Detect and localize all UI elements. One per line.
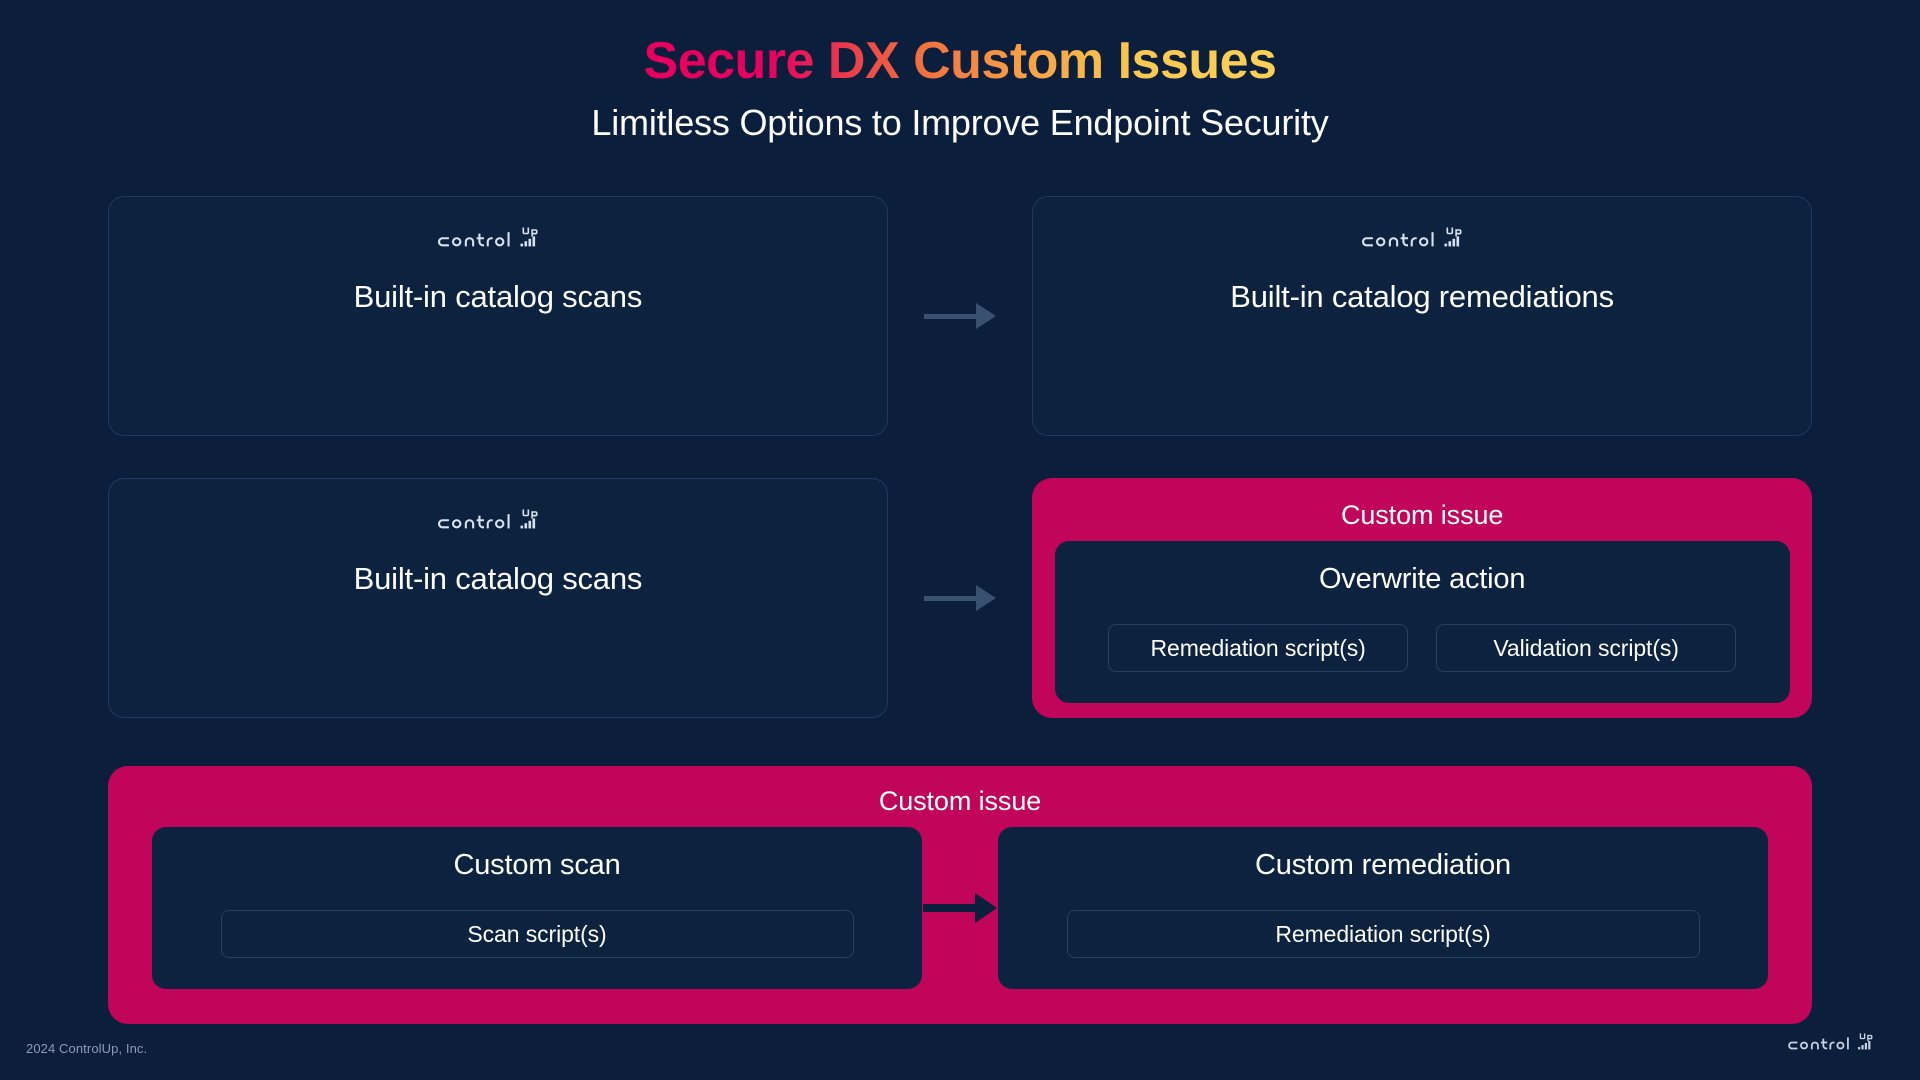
page-title: Secure DX Custom Issues — [644, 32, 1277, 90]
footer-copyright: 2024 ControlUp, Inc. — [26, 1041, 147, 1056]
inner-card-custom-remediation: Custom remediation Remediation script(s) — [998, 827, 1768, 989]
panel-custom-issue-overwrite[interactable]: Custom issue Overwrite action Remediatio… — [1032, 478, 1812, 718]
connector-overwrite — [888, 478, 1032, 718]
row-custom: Custom issue Custom scan Scan script(s) … — [0, 766, 1920, 1024]
script-button-row: Remediation script(s) Validation script(… — [1108, 624, 1736, 672]
controlup-logo-icon — [1788, 1033, 1890, 1055]
card-label: Built-in catalog remediations — [1230, 279, 1614, 315]
card-builtin-catalog-remediations[interactable]: Built-in catalog remediations — [1032, 196, 1812, 436]
controlup-logo-icon — [438, 509, 558, 535]
row-builtin: Built-in catalog scans — [0, 196, 1920, 436]
footer-controlup-logo — [1788, 1033, 1890, 1060]
validation-script-button[interactable]: Validation script(s) — [1436, 624, 1736, 672]
panel-custom-issue-wide[interactable]: Custom issue Custom scan Scan script(s) … — [108, 766, 1812, 1024]
row-overwrite: Built-in catalog scans Custom issue Over… — [0, 478, 1920, 718]
card-builtin-catalog-scans-2[interactable]: Built-in catalog scans — [108, 478, 888, 718]
inner-card-title: Overwrite action — [1319, 563, 1525, 596]
remediation-script-button[interactable]: Remediation script(s) — [1067, 910, 1700, 958]
remediation-script-button[interactable]: Remediation script(s) — [1108, 624, 1408, 672]
diagram: Built-in catalog scans — [0, 196, 1920, 1024]
arrow-right-icon — [923, 893, 997, 923]
panel-title: Custom issue — [1341, 500, 1503, 531]
inner-card-custom-scan: Custom scan Scan script(s) — [152, 827, 922, 989]
arrow-right-icon — [924, 585, 996, 611]
controlup-logo-icon — [438, 227, 558, 253]
scan-script-button[interactable]: Scan script(s) — [221, 910, 854, 958]
panel-body: Custom scan Scan script(s) Custom remedi… — [108, 827, 1812, 989]
inner-card-overwrite-action: Overwrite action Remediation script(s) V… — [1055, 541, 1790, 703]
connector-builtin — [888, 196, 1032, 436]
inner-card-title: Custom scan — [453, 849, 620, 882]
connector-custom — [922, 893, 998, 923]
card-label: Built-in catalog scans — [354, 279, 643, 315]
arrow-right-icon — [924, 303, 996, 329]
page-subtitle: Limitless Options to Improve Endpoint Se… — [0, 102, 1920, 144]
controlup-logo-icon — [1362, 227, 1482, 253]
slide-header: Secure DX Custom Issues Limitless Option… — [0, 0, 1920, 144]
inner-card-title: Custom remediation — [1255, 849, 1511, 882]
panel-title: Custom issue — [879, 786, 1041, 817]
card-label: Built-in catalog scans — [354, 561, 643, 597]
card-builtin-catalog-scans[interactable]: Built-in catalog scans — [108, 196, 888, 436]
